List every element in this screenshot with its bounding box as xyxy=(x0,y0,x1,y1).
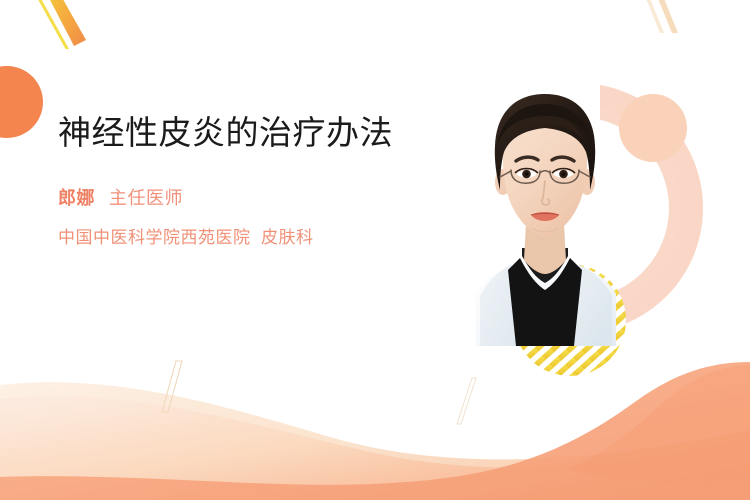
video-cover-slide: 神经性皮炎的治疗办法 郎娜 主任医师 中国中医科学院西苑医院 皮肤科 xyxy=(0,0,750,500)
portrait-illustration xyxy=(440,78,650,346)
presenter-portrait xyxy=(440,78,650,346)
page-title: 神经性皮炎的治疗办法 xyxy=(58,112,418,154)
presenter-rank: 主任医师 xyxy=(109,184,183,210)
presenter-name: 郎娜 xyxy=(58,184,95,210)
presenter-affiliation: 中国中医科学院西苑医院 皮肤科 xyxy=(58,223,418,248)
slide-text-block: 神经性皮炎的治疗办法 郎娜 主任医师 中国中医科学院西苑医院 皮肤科 xyxy=(58,112,418,248)
presenter-credit: 郎娜 主任医师 xyxy=(58,184,418,210)
